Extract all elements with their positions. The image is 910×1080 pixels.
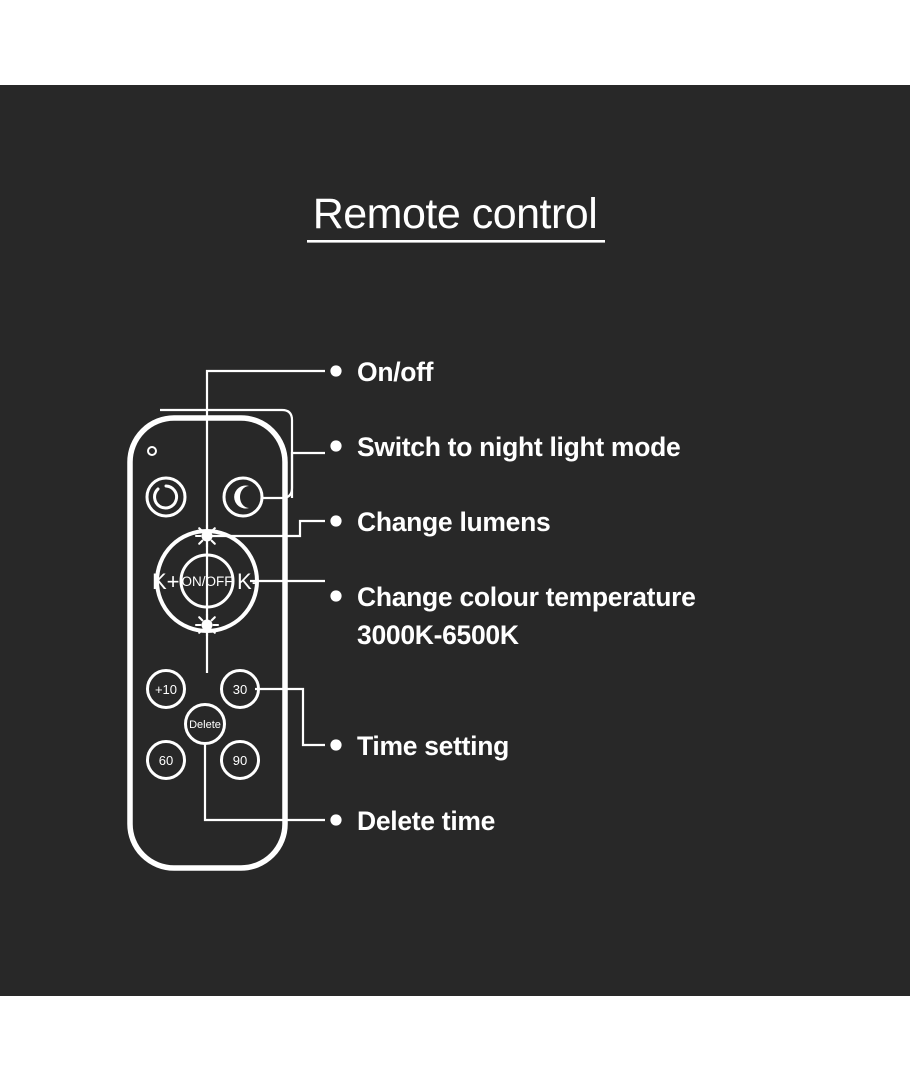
callout-change-lumens[interactable]: Change lumens: [330, 507, 550, 537]
title-underline: [307, 240, 605, 243]
reset-button-outline: [147, 478, 185, 516]
power-reset-icon: [155, 486, 177, 508]
timer-plus10-label: +10: [155, 682, 177, 697]
page-root: Remote control: [0, 0, 910, 1080]
power-button-label: ON/OFF: [182, 574, 233, 589]
leader-time-setting: [255, 689, 325, 745]
callout-label-colour-temperature: Change colour temperature: [357, 582, 696, 612]
sun-dim-core: [202, 620, 213, 631]
page-title-group: Remote control: [307, 190, 605, 243]
night-light-button[interactable]: [224, 478, 262, 516]
callout-label-night-light: Switch to night light mode: [357, 432, 680, 462]
sun-bright-icon[interactable]: [196, 525, 218, 547]
ir-led-dot: [148, 447, 156, 455]
reset-button[interactable]: [147, 478, 185, 516]
timer-30-button[interactable]: 30: [222, 671, 259, 708]
callout-label-delete-time: Delete time: [357, 806, 495, 836]
callout-on-off[interactable]: On/off: [330, 357, 433, 387]
main-dial[interactable]: ON/OFF K+ K-: [152, 525, 259, 636]
dark-panel: Remote control: [0, 85, 910, 996]
timer-delete-button[interactable]: Delete: [186, 705, 225, 744]
bullet-icon: [330, 515, 341, 526]
timer-90-button[interactable]: 90: [222, 742, 259, 779]
callout-label-colour-temperature-range: 3000K-6500K: [357, 620, 519, 650]
kelvin-up-label[interactable]: K+: [152, 569, 180, 594]
callout-colour-temperature[interactable]: Change colour temperature 3000K-6500K: [330, 582, 695, 650]
callout-time-setting[interactable]: Time setting: [330, 731, 509, 761]
timer-30-label: 30: [233, 682, 247, 697]
bullet-icon: [330, 440, 341, 451]
timer-delete-label: Delete: [189, 719, 221, 731]
page-title: Remote control: [313, 190, 598, 238]
callout-label-on-off: On/off: [357, 357, 434, 387]
callout-label-time-setting: Time setting: [357, 731, 509, 761]
leader-night-light: [262, 453, 325, 498]
sun-dim-icon[interactable]: [196, 614, 218, 636]
timer-buttons[interactable]: +10 30 Delete 60: [148, 671, 259, 779]
sun-bright-core: [202, 531, 213, 542]
bullet-icon: [330, 814, 341, 825]
timer-60-button[interactable]: 60: [148, 742, 185, 779]
night-light-button-outline: [224, 478, 262, 516]
kelvin-down-label[interactable]: K-: [237, 569, 259, 594]
bullet-icon: [330, 365, 341, 376]
callout-night-light[interactable]: Switch to night light mode: [330, 432, 680, 462]
callout-list: On/off Switch to night light mode Change…: [330, 357, 695, 836]
bullet-icon: [330, 739, 341, 750]
timer-90-label: 90: [233, 753, 247, 768]
timer-60-label: 60: [159, 753, 173, 768]
remote-control-diagram: Remote control: [0, 85, 910, 996]
callout-delete-time[interactable]: Delete time: [330, 806, 495, 836]
timer-plus10-button[interactable]: +10: [148, 671, 185, 708]
bullet-icon: [330, 590, 341, 601]
callout-label-change-lumens: Change lumens: [357, 507, 550, 537]
moon-icon: [234, 486, 249, 509]
